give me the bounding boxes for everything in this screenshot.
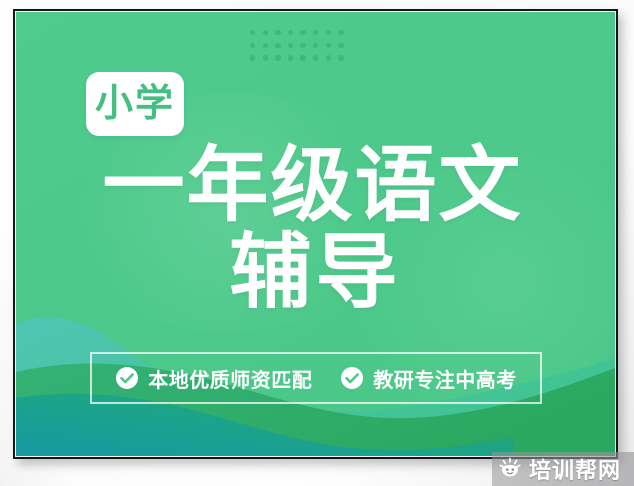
grade-badge: 小学 — [86, 72, 184, 136]
dot — [288, 30, 293, 35]
feature-item-1: 本地优质师资匹配 — [115, 364, 312, 393]
dot — [288, 43, 293, 48]
watermark-label: 培训帮网 — [529, 453, 621, 485]
dot — [338, 55, 343, 60]
dot — [313, 55, 318, 60]
dot — [326, 43, 331, 48]
dot-grid-icon — [250, 30, 351, 68]
feature-strip: 本地优质师资匹配 教研专注中高考 — [90, 352, 542, 404]
dot — [275, 55, 280, 60]
poster-root: 小学 一年级语文 辅导 本地优质师资匹配 教研专注中高考 — [0, 0, 634, 486]
dot — [275, 30, 280, 35]
poster-headline: 一年级语文 辅导 — [16, 146, 615, 317]
dot — [250, 43, 255, 48]
dot — [263, 30, 268, 35]
watermark: 培训帮网 — [492, 452, 634, 486]
dot — [313, 30, 318, 35]
poster-card: 小学 一年级语文 辅导 本地优质师资匹配 教研专注中高考 — [16, 12, 615, 456]
dot — [300, 55, 305, 60]
dot — [250, 30, 255, 35]
feature-item-2: 教研专注中高考 — [340, 364, 517, 393]
feature-label: 本地优质师资匹配 — [148, 364, 312, 393]
dot — [263, 43, 268, 48]
headline-line-1: 一年级语文 — [16, 146, 609, 226]
check-circle-icon — [340, 366, 364, 390]
dot — [275, 43, 280, 48]
dot — [313, 43, 318, 48]
feature-label: 教研专注中高考 — [373, 364, 517, 393]
dot — [338, 30, 343, 35]
sun-face-icon — [498, 457, 522, 481]
dot — [338, 43, 343, 48]
dot — [326, 30, 331, 35]
dot — [326, 55, 331, 60]
dot — [250, 55, 255, 60]
dot — [300, 30, 305, 35]
dot — [263, 55, 268, 60]
grade-badge-label: 小学 — [95, 85, 175, 123]
dot — [288, 55, 293, 60]
check-circle-icon — [115, 366, 139, 390]
headline-line-2: 辅导 — [16, 226, 615, 317]
dot — [300, 43, 305, 48]
